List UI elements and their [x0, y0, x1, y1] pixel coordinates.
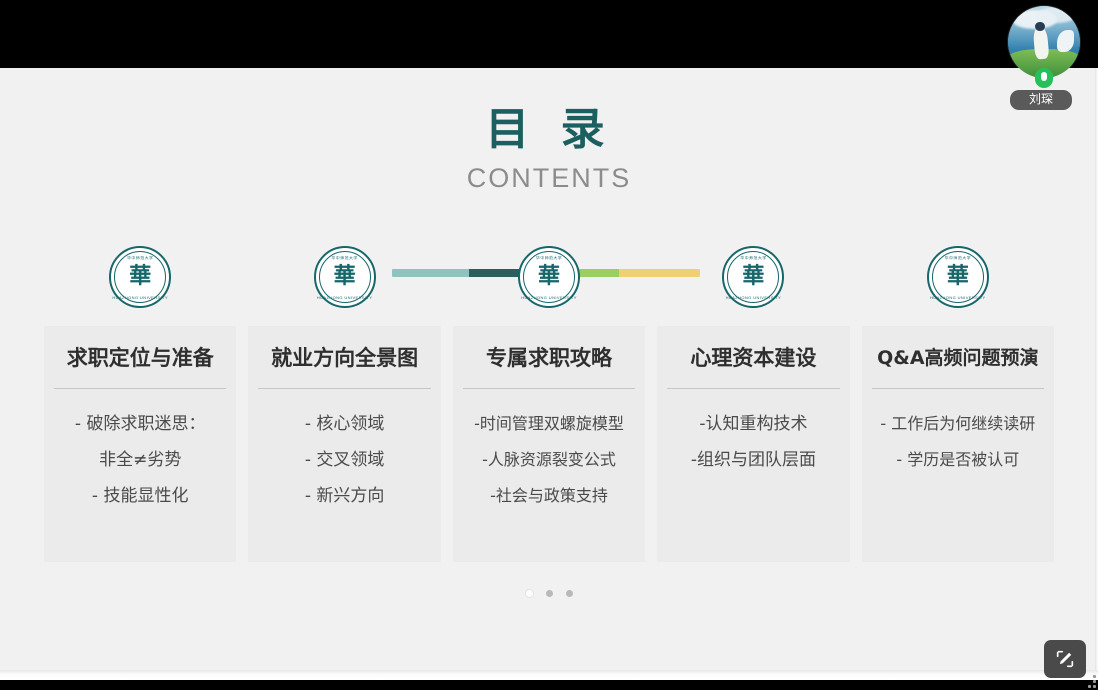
slide-pagination[interactable]: [0, 590, 1098, 597]
card-item-list: -时间管理双螺旋模型 -人脉资源裂变公式 -社会与政策支持: [463, 413, 635, 507]
pagination-dot-3[interactable]: [566, 590, 573, 597]
contents-card-4[interactable]: 华中师范大学 華 HUAZHONG UNIVERSITY 心理资本建设 -认知重…: [657, 246, 849, 562]
card-title: 求职定位与准备: [67, 344, 214, 372]
pencil-annotate-icon: [1054, 648, 1076, 670]
pagination-dot-2[interactable]: [546, 590, 553, 597]
card-item: - 破除求职迷思：: [75, 413, 206, 435]
microphone-icon[interactable]: [1035, 68, 1053, 88]
card-item: - 技能显性化: [92, 485, 189, 507]
card-item: - 核心领域: [305, 413, 385, 435]
card-divider: [258, 388, 430, 389]
resize-grip[interactable]: [1086, 672, 1096, 688]
card-item: -组织与团队层面: [691, 449, 816, 471]
presentation-slide: 目 录 CONTENTS 华中师范大学 華 HUAZHONG UNIVERSIT…: [0, 68, 1098, 680]
participant-name-label: 刘琛: [1010, 90, 1072, 110]
card-item: -人脉资源裂变公式: [482, 449, 616, 471]
page-title-en: CONTENTS: [0, 162, 1098, 194]
card-item: - 新兴方向: [305, 485, 385, 507]
contents-card-row: 华中师范大学 華 HUAZHONG UNIVERSITY 求职定位与准备 - 破…: [44, 246, 1054, 562]
card-item: -认知重构技术: [699, 413, 807, 435]
card-panel: 专属求职攻略 -时间管理双螺旋模型 -人脉资源裂变公式 -社会与政策支持: [453, 326, 645, 562]
card-item: - 交叉领域: [305, 449, 385, 471]
university-seal-icon: 华中师范大学 華 HUAZHONG UNIVERSITY: [927, 246, 989, 308]
card-item: 非全≠劣势: [99, 449, 181, 471]
pagination-dot-1[interactable]: [526, 590, 533, 597]
participant-tile[interactable]: 刘琛: [1008, 6, 1084, 106]
card-item: - 学历是否被认可: [896, 449, 1019, 471]
card-title: 心理资本建设: [690, 344, 816, 372]
card-item-list: - 工作后为何继续读研 - 学历是否被认可: [872, 413, 1044, 471]
contents-card-3[interactable]: 华中师范大学 華 HUAZHONG UNIVERSITY 专属求职攻略 -时间管…: [453, 246, 645, 562]
university-seal-icon: 华中师范大学 華 HUAZHONG UNIVERSITY: [518, 246, 580, 308]
annotate-button[interactable]: [1044, 640, 1086, 678]
card-title: 专属求职攻略: [486, 344, 612, 372]
contents-card-5[interactable]: 华中师范大学 華 HUAZHONG UNIVERSITY Q&A高频问题预演 -…: [862, 246, 1054, 562]
slide-bottom-edge: [0, 670, 1098, 680]
slide-heading: 目 录 CONTENTS: [0, 104, 1098, 194]
card-title: 就业方向全景图: [271, 344, 418, 372]
card-item: -社会与政策支持: [490, 485, 608, 507]
contents-card-2[interactable]: 华中师范大学 華 HUAZHONG UNIVERSITY 就业方向全景图 - 核…: [248, 246, 440, 562]
card-item-list: -认知重构技术 -组织与团队层面: [667, 413, 839, 471]
card-panel: 就业方向全景图 - 核心领域 - 交叉领域 - 新兴方向: [248, 326, 440, 562]
card-item: - 工作后为何继续读研: [880, 413, 1035, 435]
university-seal-icon: 华中师范大学 華 HUAZHONG UNIVERSITY: [722, 246, 784, 308]
page-title-cn: 目 录: [0, 104, 1098, 156]
card-divider: [54, 388, 226, 389]
university-seal-icon: 华中师范大学 華 HUAZHONG UNIVERSITY: [314, 246, 376, 308]
contents-card-1[interactable]: 华中师范大学 華 HUAZHONG UNIVERSITY 求职定位与准备 - 破…: [44, 246, 236, 562]
meeting-top-bar: [0, 0, 1098, 68]
card-title: Q&A高频问题预演: [877, 344, 1038, 372]
card-divider: [463, 388, 635, 389]
card-panel: 求职定位与准备 - 破除求职迷思： 非全≠劣势 - 技能显性化: [44, 326, 236, 562]
card-item-list: - 破除求职迷思： 非全≠劣势 - 技能显性化: [54, 413, 226, 507]
card-item: -时间管理双螺旋模型: [474, 413, 624, 435]
university-seal-icon: 华中师范大学 華 HUAZHONG UNIVERSITY: [109, 246, 171, 308]
card-item-list: - 核心领域 - 交叉领域 - 新兴方向: [258, 413, 430, 507]
card-divider: [872, 388, 1044, 389]
card-divider: [667, 388, 839, 389]
card-panel: 心理资本建设 -认知重构技术 -组织与团队层面: [657, 326, 849, 562]
card-panel: Q&A高频问题预演 - 工作后为何继续读研 - 学历是否被认可: [862, 326, 1054, 562]
